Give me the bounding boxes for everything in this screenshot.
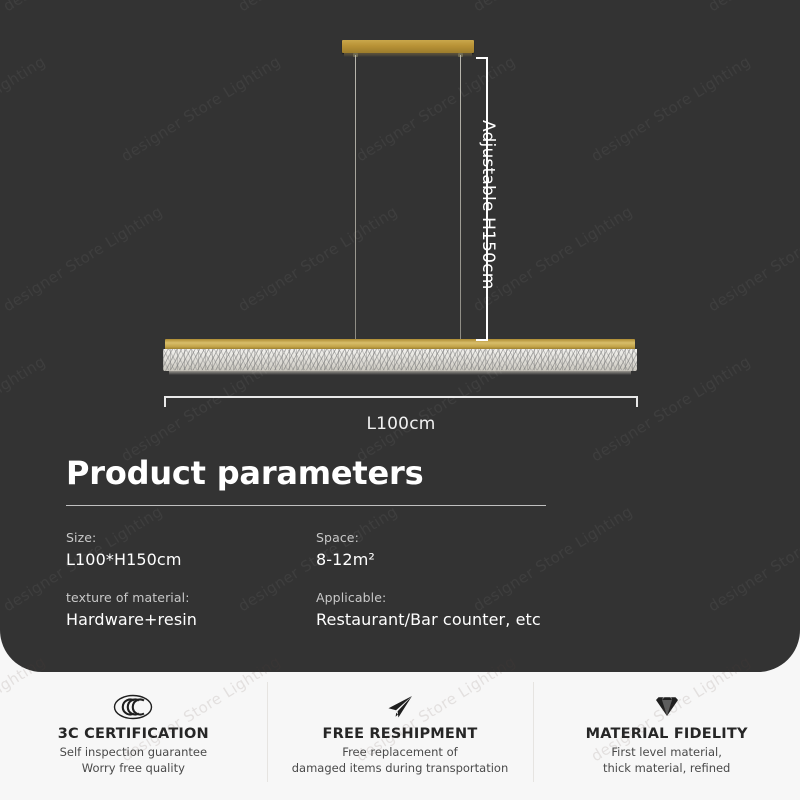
diamond-icon bbox=[533, 692, 800, 722]
feature-subtitle-line1: Free replacement of bbox=[342, 745, 457, 759]
parameter-item: Applicable: Restaurant/Bar counter, etc bbox=[316, 590, 666, 629]
length-dimension-label-wrap: L100cm bbox=[0, 414, 800, 434]
dimension-tick-left bbox=[164, 396, 166, 407]
parameter-label: Size: bbox=[66, 530, 316, 545]
product-spec-page: Adjustable H150cm L100cm Product paramet… bbox=[0, 0, 800, 800]
feature-subtitle-line2: Worry free quality bbox=[8, 761, 259, 777]
dimension-tick-bottom bbox=[476, 339, 488, 341]
title-divider bbox=[66, 505, 546, 506]
feature-subtitle-line1: Self inspection guarantee bbox=[60, 745, 208, 759]
feature-material-fidelity: MATERIAL FIDELITY First level material, … bbox=[533, 672, 800, 800]
parameter-label: Space: bbox=[316, 530, 666, 545]
dimension-stem bbox=[164, 396, 638, 398]
product-card: Adjustable H150cm L100cm Product paramet… bbox=[0, 0, 800, 672]
feature-subtitle-line2: thick material, refined bbox=[541, 761, 792, 777]
feature-subtitle: Free replacement of damaged items during… bbox=[267, 745, 534, 776]
parameter-item: Space: 8-12m² bbox=[316, 530, 666, 569]
suspension-cable bbox=[460, 55, 461, 340]
feature-subtitle-line1: First level material, bbox=[611, 745, 722, 759]
ccc-certification-icon bbox=[0, 692, 267, 722]
parameter-value: 8-12m² bbox=[316, 550, 666, 569]
feature-3c-certification: 3C CERTIFICATION Self inspection guarant… bbox=[0, 672, 267, 800]
feature-title: MATERIAL FIDELITY bbox=[533, 726, 800, 742]
feature-subtitle: First level material, thick material, re… bbox=[533, 745, 800, 776]
dimension-tick-right bbox=[636, 396, 638, 407]
linear-lamp-body bbox=[163, 339, 637, 376]
length-dimension-bracket bbox=[164, 396, 638, 408]
height-dimension-label: Adjustable H150cm bbox=[478, 120, 498, 289]
feature-title: FREE RESHIPMENT bbox=[267, 726, 534, 742]
paper-plane-icon bbox=[267, 692, 534, 722]
parameter-label: Applicable: bbox=[316, 590, 666, 605]
lamp-diagram: Adjustable H150cm L100cm bbox=[0, 0, 800, 440]
parameter-item: Size: L100*H150cm bbox=[66, 530, 316, 569]
ceiling-plate-shadow bbox=[344, 53, 472, 57]
feature-subtitle-line2: damaged items during transportation bbox=[275, 761, 526, 777]
feature-subtitle: Self inspection guarantee Worry free qua… bbox=[0, 745, 267, 776]
parameter-value: Hardware+resin bbox=[66, 610, 316, 629]
lamp-underglow bbox=[169, 370, 631, 375]
product-parameters-section: Product parameters Size: L100*H150cm Spa… bbox=[66, 456, 666, 629]
feature-badges: 3C CERTIFICATION Self inspection guarant… bbox=[0, 672, 800, 800]
length-dimension-label: L100cm bbox=[366, 414, 435, 434]
parameter-value: L100*H150cm bbox=[66, 550, 316, 569]
feature-free-reshipment: FREE RESHIPMENT Free replacement of dama… bbox=[267, 672, 534, 800]
parameters-grid: Size: L100*H150cm Space: 8-12m² texture … bbox=[66, 530, 666, 629]
parameter-value: Restaurant/Bar counter, etc bbox=[316, 610, 666, 629]
suspension-cable bbox=[355, 55, 356, 340]
dimension-tick-top bbox=[476, 57, 488, 59]
feature-title: 3C CERTIFICATION bbox=[0, 726, 267, 742]
ceiling-plate bbox=[342, 40, 474, 53]
parameter-label: texture of material: bbox=[66, 590, 316, 605]
page-title: Product parameters bbox=[66, 456, 666, 491]
parameter-item: texture of material: Hardware+resin bbox=[66, 590, 316, 629]
crystal-resin-diffuser bbox=[163, 349, 637, 371]
